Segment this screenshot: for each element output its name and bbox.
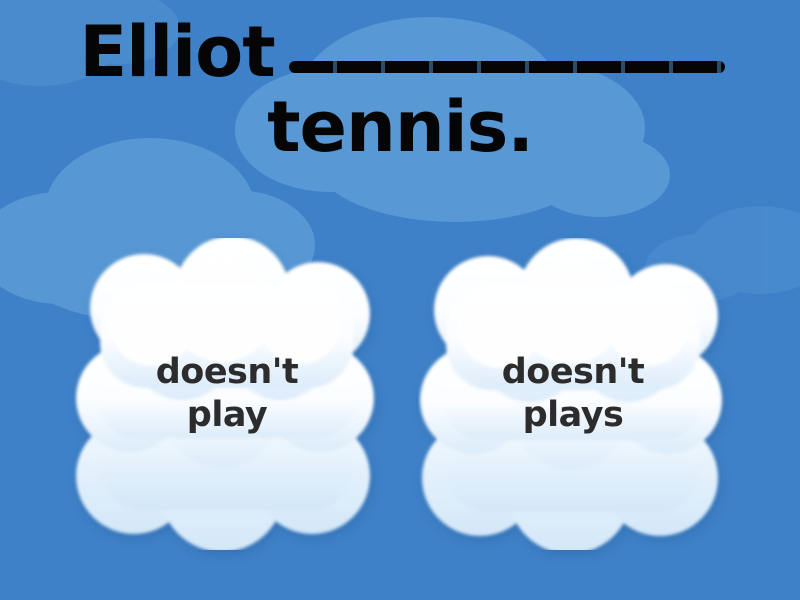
answer-card-2[interactable]: doesn't plays [418, 238, 728, 550]
answer-label-1: doesn't play [112, 351, 342, 438]
answer-card-1[interactable]: doesn't play [72, 238, 382, 550]
bg-cloud-corner [0, 0, 180, 86]
bg-cloud-upper [235, 17, 670, 222]
answer-options: doesn't play [0, 238, 800, 568]
answer-label-2: doesn't plays [458, 351, 688, 438]
quiz-stage: Elliot tennis. [0, 0, 800, 600]
